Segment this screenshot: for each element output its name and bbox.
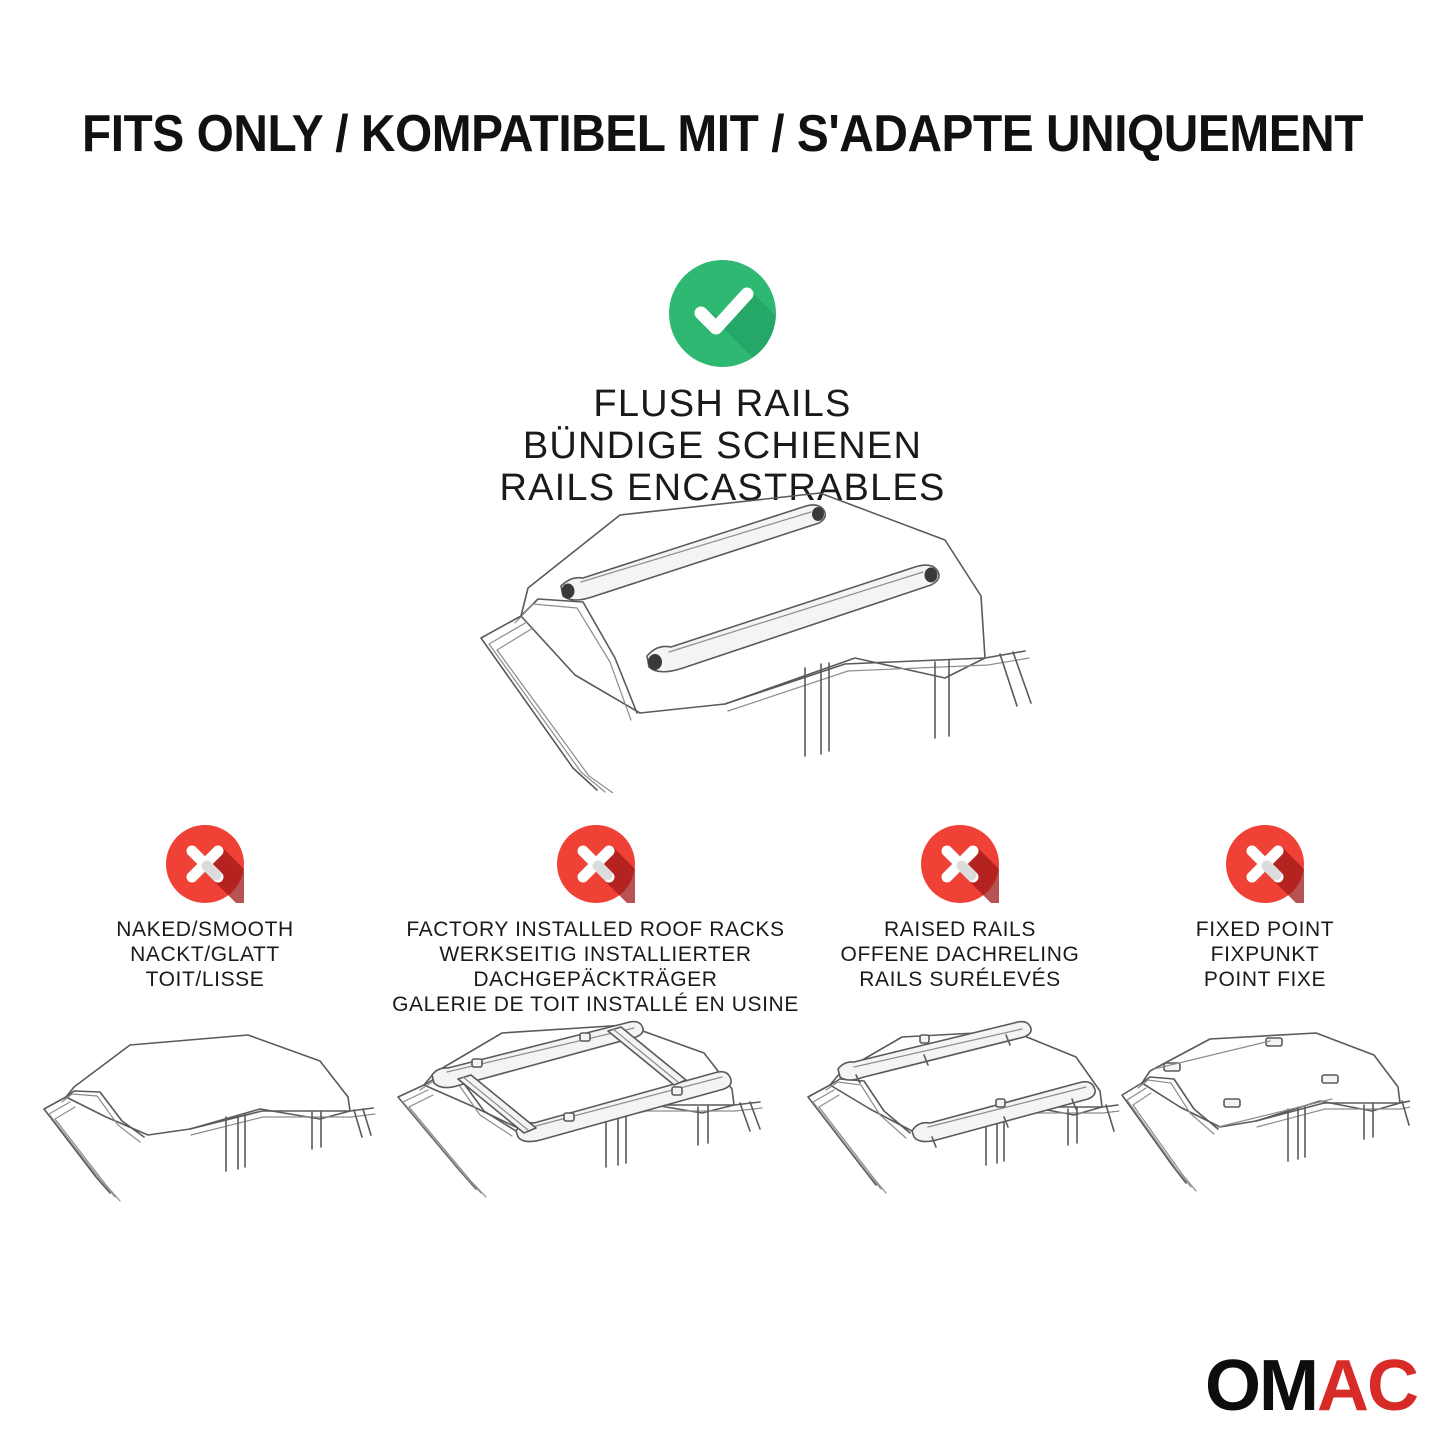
incompatible-label-raised-rails: RAISED RAILS OFFENE DACHRELING RAILS SUR…	[800, 917, 1120, 992]
label-line-2: WERKSEITIG INSTALLIERTER	[368, 942, 823, 967]
label-line-2: NACKT/GLATT	[30, 942, 380, 967]
incompatible-label-fixed-point: FIXED POINT FIXPUNKT POINT FIXE	[1120, 917, 1410, 992]
incompatible-column-factory-roof-racks: FACTORY INSTALLED ROOF RACKS WERKSEITIG …	[368, 825, 823, 907]
incompatible-label-naked-smooth: NAKED/SMOOTH NACKT/GLATT TOIT/LISSE	[30, 917, 380, 992]
x-circle-icon	[921, 825, 999, 903]
x-circle-icon	[166, 825, 244, 903]
badge-holder	[368, 825, 823, 907]
label-line-3: POINT FIXE	[1120, 967, 1410, 992]
x-circle-icon	[557, 825, 635, 903]
label-line-3: DACHGEPÄCKTRÄGER	[368, 967, 823, 992]
incompatible-column-raised-rails: RAISED RAILS OFFENE DACHRELING RAILS SUR…	[800, 825, 1120, 907]
badge-holder	[1120, 825, 1410, 907]
label-line-1: NAKED/SMOOTH	[30, 917, 380, 942]
car-roof-naked-smooth-illustration	[30, 1025, 380, 1225]
badge-shadow	[669, 260, 776, 367]
x-circle-icon	[1226, 825, 1304, 903]
omac-logo: OMAC	[1205, 1355, 1417, 1417]
check-circle-icon	[669, 260, 776, 367]
car-roof-with-flush-rails-illustration	[425, 468, 1055, 793]
label-line-3: RAILS SURÉLEVÉS	[800, 967, 1120, 992]
logo-text-ac: AC	[1317, 1355, 1417, 1417]
compatibility-infographic: FITS ONLY / KOMPATIBEL MIT / S'ADAPTE UN…	[0, 0, 1445, 1445]
incompatible-column-fixed-point: FIXED POINT FIXPUNKT POINT FIXE	[1120, 825, 1410, 907]
logo-text-om: OM	[1205, 1355, 1317, 1417]
incompatible-column-naked-smooth: NAKED/SMOOTH NACKT/GLATT TOIT/LISSE	[30, 825, 380, 907]
badge-holder	[800, 825, 1120, 907]
label-line-1: RAISED RAILS	[800, 917, 1120, 942]
label-line-1: FACTORY INSTALLED ROOF RACKS	[368, 917, 823, 942]
car-roof-fixed-point-illustration	[1120, 1025, 1410, 1225]
label-line-3: TOIT/LISSE	[30, 967, 380, 992]
compatible-label-line-2: BÜNDIGE SCHIENEN	[0, 425, 1445, 467]
badge-holder	[30, 825, 380, 907]
label-line-2: OFFENE DACHRELING	[800, 942, 1120, 967]
car-roof-raised-rails-illustration	[800, 1007, 1120, 1227]
page-title: FITS ONLY / KOMPATIBEL MIT / S'ADAPTE UN…	[58, 104, 1387, 164]
compatible-label-line-1: FLUSH RAILS	[0, 383, 1445, 425]
label-line-2: FIXPUNKT	[1120, 942, 1410, 967]
car-roof-factory-roof-racks-illustration	[368, 997, 823, 1227]
label-line-1: FIXED POINT	[1120, 917, 1410, 942]
